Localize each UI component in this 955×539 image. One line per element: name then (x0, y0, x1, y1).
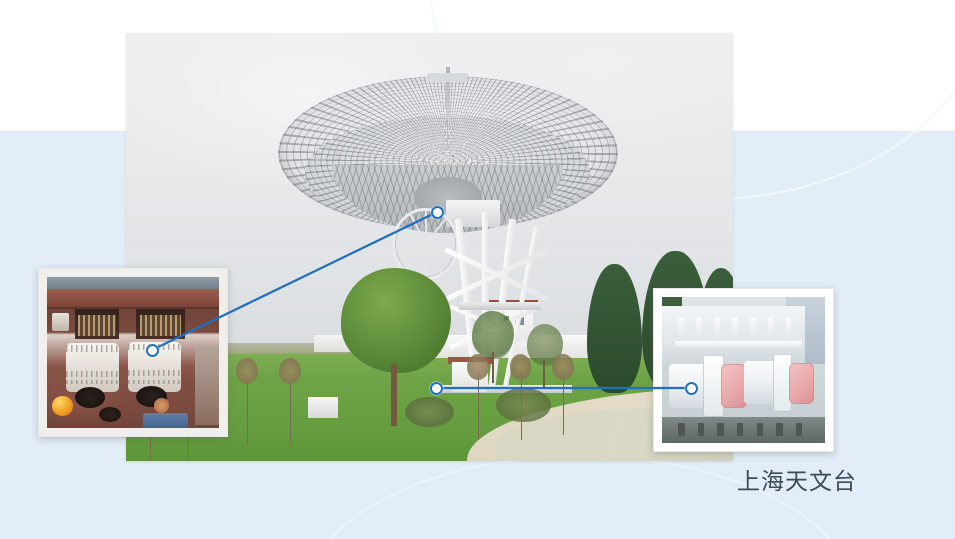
slide-caption: 上海天文台 (737, 468, 857, 496)
marker-dish-mount[interactable] (431, 206, 444, 219)
marker-tower-base[interactable] (430, 382, 443, 395)
connector-line-dish-drive (152, 212, 437, 350)
slide-canvas: 上海天文台 (0, 0, 955, 539)
callout-connector-lines (0, 0, 955, 539)
marker-inset-right-target[interactable] (685, 382, 698, 395)
marker-inset-left-target[interactable] (146, 344, 159, 357)
